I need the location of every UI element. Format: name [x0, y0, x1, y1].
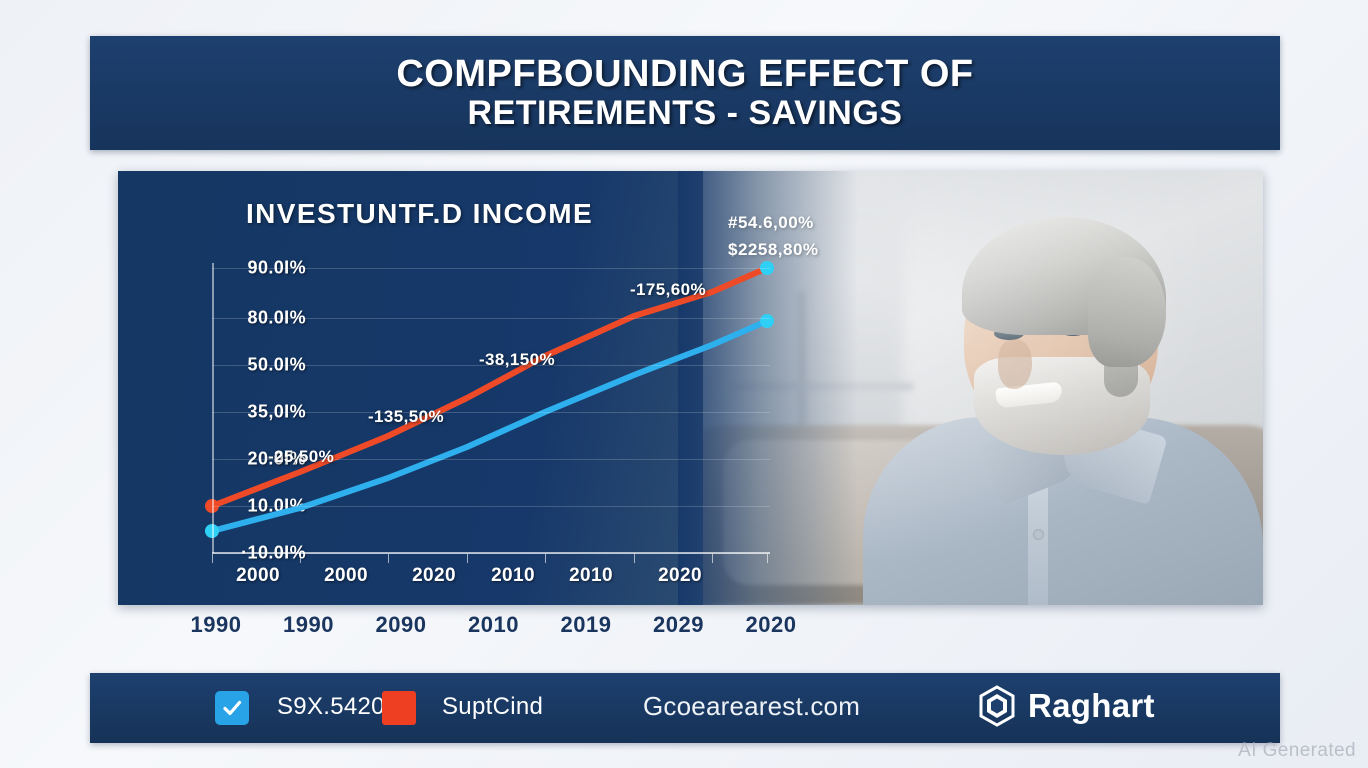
data-point-label: -25,50%: [268, 447, 334, 467]
brand-logo[interactable]: Raghart: [977, 685, 1155, 727]
x-axis-tick-label: 2010: [569, 565, 613, 587]
corner-value-label: #54.6,00%: [728, 213, 814, 233]
outer-x-axis-label: 2020: [746, 612, 797, 638]
legend-checkbox-s9x[interactable]: [215, 691, 249, 725]
title-line-2: RETIREMENTS - SAVINGS: [468, 96, 903, 131]
data-point-label: -38,150%: [479, 350, 555, 370]
y-axis-line: [212, 263, 214, 553]
legend-swatch-suptcind[interactable]: [382, 691, 416, 725]
x-axis-tick: [712, 554, 713, 563]
x-axis-tick-label: 2000: [236, 565, 280, 587]
series-endpoint-marker: [760, 314, 774, 328]
title-line-1: COMPFBOUNDING EFFECT OF: [396, 55, 973, 95]
x-axis-tick-label: 2020: [658, 565, 702, 587]
gridline: [212, 506, 770, 507]
outer-x-axis-labels: 1990199020902010201920292020: [118, 612, 878, 648]
x-axis-tick: [467, 554, 468, 563]
title-banner: COMPFBOUNDING EFFECT OF RETIREMENTS - SA…: [90, 36, 1280, 150]
outer-x-axis-label: 2029: [653, 612, 704, 638]
footer-website-link[interactable]: Gcoearearest.com: [643, 691, 860, 722]
footer-bar: S9X.5420 SuptCind Gcoearearest.com Ragha…: [90, 673, 1280, 743]
outer-x-axis-label: 2090: [376, 612, 427, 638]
brand-name: Raghart: [1028, 687, 1155, 725]
x-axis-tick: [388, 554, 389, 563]
chart-panel: INVESTUNTF.D INCOME 90.0I%80.0I%50.0I%35…: [118, 171, 1263, 605]
outer-x-axis-label: 1990: [191, 612, 242, 638]
corner-value-label: $2258,80%: [728, 240, 819, 260]
x-axis-tick: [212, 554, 213, 563]
outer-x-axis-label: 2019: [561, 612, 612, 638]
check-icon: [221, 697, 243, 719]
x-axis-tick: [767, 554, 768, 563]
hexagon-logo-icon: [977, 685, 1017, 727]
ai-generated-watermark: AI Generated: [1238, 740, 1356, 762]
line-chart: INVESTUNTF.D INCOME 90.0I%80.0I%50.0I%35…: [118, 171, 878, 605]
data-point-label: -175,60%: [630, 280, 706, 300]
x-axis-tick-label: 2000: [324, 565, 368, 587]
gridline: [212, 553, 770, 554]
outer-x-axis-label: 1990: [283, 612, 334, 638]
series-lines: [118, 171, 878, 605]
gridline: [212, 318, 770, 319]
x-axis-tick: [634, 554, 635, 563]
gridline: [212, 268, 770, 269]
x-axis-tick-label: 2010: [491, 565, 535, 587]
x-axis-tick: [545, 554, 546, 563]
x-axis-tick-label: 2020: [412, 565, 456, 587]
data-point-label: -135,50%: [368, 407, 444, 427]
x-axis-tick: [300, 554, 301, 563]
plot-region: 200020002020201020102020-25,50%-135,50%-…: [118, 171, 878, 605]
legend-label-s9x[interactable]: S9X.5420: [277, 693, 385, 721]
gridline: [212, 412, 770, 413]
legend-label-suptcind[interactable]: SuptCind: [442, 693, 543, 721]
series-line-suptcind: [212, 268, 767, 506]
outer-x-axis-label: 2010: [468, 612, 519, 638]
